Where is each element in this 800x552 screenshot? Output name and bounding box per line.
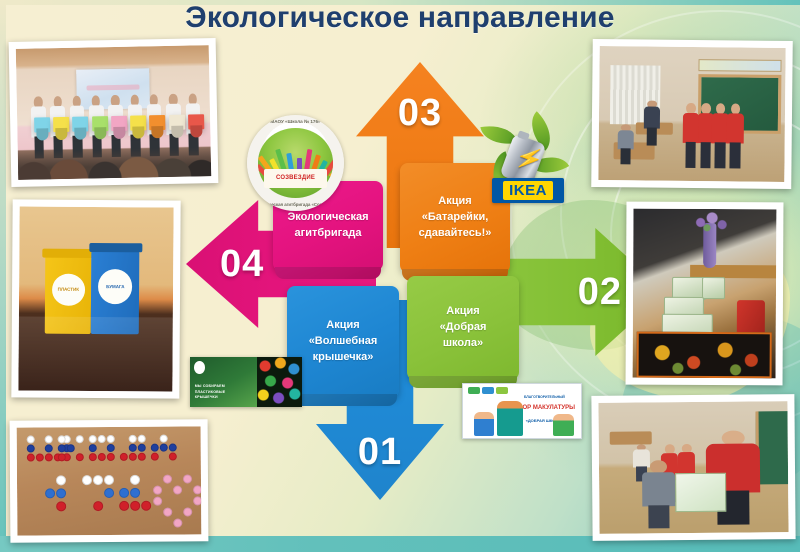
poster-paper-teacher (497, 401, 523, 436)
arrow-number-03: 03 (398, 92, 442, 135)
card-school-line-1: Акция (440, 304, 487, 320)
arrow-number-02: 02 (578, 271, 622, 314)
bottle-cap-heart (163, 475, 172, 484)
poster-caps-line-3: КРЫШЕЧКИ (195, 395, 253, 400)
card-school-line-2: «Добрая (440, 320, 487, 336)
poster-paper-icon-row (468, 387, 508, 394)
poster-paper-collection: БЛАГОТВОРИТЕЛЬНЫЙ СБОР МАКУЛАТУРЫ «ДОБРА… (462, 383, 582, 439)
bottle-cap-heart (183, 507, 192, 516)
card-bat-line-3: сдавайтесь!» (419, 226, 492, 242)
bottle-cap (58, 435, 66, 443)
bottle-cap (45, 488, 55, 498)
bottle-cap (104, 488, 114, 498)
bottle-cap (98, 453, 106, 461)
bottle-cap (98, 435, 106, 443)
card-magic-cap-action[interactable]: Акция «Волшебная крышечка» (287, 286, 399, 398)
bottle-cap (36, 453, 44, 461)
bottle-cap (129, 453, 137, 461)
bottle-cap (89, 435, 97, 443)
bottle-cap (119, 501, 129, 511)
bin-label-yellow: ПЛАСТИК (52, 273, 85, 306)
bottle-cap (151, 444, 159, 452)
bottle-cap (27, 436, 35, 444)
bottle-cap (160, 435, 168, 443)
bottle-cap (160, 444, 168, 452)
poster-caps-logo-icon (194, 361, 205, 374)
bottle-cap (130, 488, 140, 498)
bottle-cap (89, 453, 97, 461)
bottle-cap (169, 453, 177, 461)
ikea-logo-text: IKEA (503, 181, 553, 200)
sozvezdie-badge-icon: МАОУ «Школа № 176» СОЗВЕЗДИЕ экологическ… (247, 115, 344, 211)
bottle-cap (82, 475, 92, 485)
bottle-cap-heart (193, 496, 201, 505)
bottle-cap (107, 453, 115, 461)
bottle-cap (27, 454, 35, 462)
poster-paper-kid-left (474, 412, 494, 436)
bin-label-blue: БУМАГА (98, 269, 133, 304)
bottle-cap-heart (153, 497, 162, 506)
bottle-cap (93, 501, 103, 511)
bottle-cap (76, 435, 84, 443)
bottle-cap (107, 435, 115, 443)
card-cap-line-1: Акция (309, 318, 378, 334)
bottle-cap (56, 488, 66, 498)
bottle-cap (130, 501, 140, 511)
bottle-cap-heart (173, 518, 182, 527)
ikea-logo: IKEA (492, 178, 564, 203)
poster-paper-kid-right (553, 414, 574, 436)
bottle-cap (119, 488, 129, 498)
photo-bottle-caps-school176 (10, 419, 209, 542)
arrow-number-04: 04 (220, 243, 264, 286)
bottle-cap (138, 453, 146, 461)
card-school-line-3: школа» (440, 336, 487, 352)
bottle-cap (138, 444, 146, 452)
bottle-cap (45, 444, 53, 452)
card-kind-school-action[interactable]: Акция «Добрая школа» (407, 276, 519, 380)
bottle-cap (138, 435, 146, 443)
card-bat-line-2: «Батарейки, (419, 210, 492, 226)
bottle-cap (89, 444, 97, 452)
bottle-cap (27, 445, 35, 453)
bottle-cap (45, 453, 53, 461)
photo-agitbrigade-stage (9, 38, 219, 187)
bottle-cap (104, 475, 114, 485)
bottle-cap (58, 444, 66, 452)
bottle-cap (58, 453, 66, 461)
photo-collection-boxes (626, 202, 784, 386)
bottle-cap-heart (173, 485, 182, 494)
card-agit-line-2: агитбригада (287, 226, 368, 242)
bottle-cap (141, 501, 151, 511)
bottle-cap (151, 453, 159, 461)
left-edge-band (0, 0, 6, 552)
bottle-cap (45, 435, 53, 443)
bottle-cap (67, 444, 75, 452)
bottle-cap (56, 501, 66, 511)
bottle-cap (129, 444, 137, 452)
bottle-cap (129, 435, 137, 443)
bottle-cap-heart (153, 486, 162, 495)
photo-paper-collection (591, 394, 795, 541)
poster-paper-line-top: БЛАГОТВОРИТЕЛЬНЫЙ (514, 395, 575, 399)
photo-classroom-presentation (591, 39, 793, 189)
poster-caps-photo (257, 357, 302, 407)
bottle-cap (93, 475, 103, 485)
bottle-cap (169, 444, 177, 452)
bottle-cap (120, 453, 128, 461)
poster-plastic-caps: МЫ СОБИРАЕМ ПЛАСТИКОВЫЕ КРЫШЕЧКИ (190, 357, 302, 407)
badge-ring-bottom-text: экологическая агитбригада «Созвездие» (247, 202, 344, 207)
arrow-number-01: 01 (358, 431, 402, 474)
bottle-cap (76, 453, 84, 461)
card-agit-line-1: Экологическая (287, 210, 368, 226)
photo-recycling-bins: ПЛАСТИК БУМАГА (11, 199, 180, 398)
badge-ring-top-text: МАОУ «Школа № 176» (247, 119, 344, 124)
card-cap-line-3: крышечка» (309, 350, 378, 366)
bottle-cap-heart (163, 508, 172, 517)
card-cap-line-2: «Волшебная (309, 334, 378, 350)
bottle-cap (130, 475, 140, 485)
bottle-cap (56, 475, 66, 485)
page-title: Экологическое направление (0, 1, 800, 35)
slide-canvas: Экологическое направление ПЛАСТИК БУМАГА (0, 0, 800, 552)
bottle-cap-heart (193, 485, 201, 494)
badge-plate-text: СОЗВЕЗДИЕ (264, 169, 326, 188)
bottle-cap-heart (183, 474, 192, 483)
bottle-cap (107, 444, 115, 452)
